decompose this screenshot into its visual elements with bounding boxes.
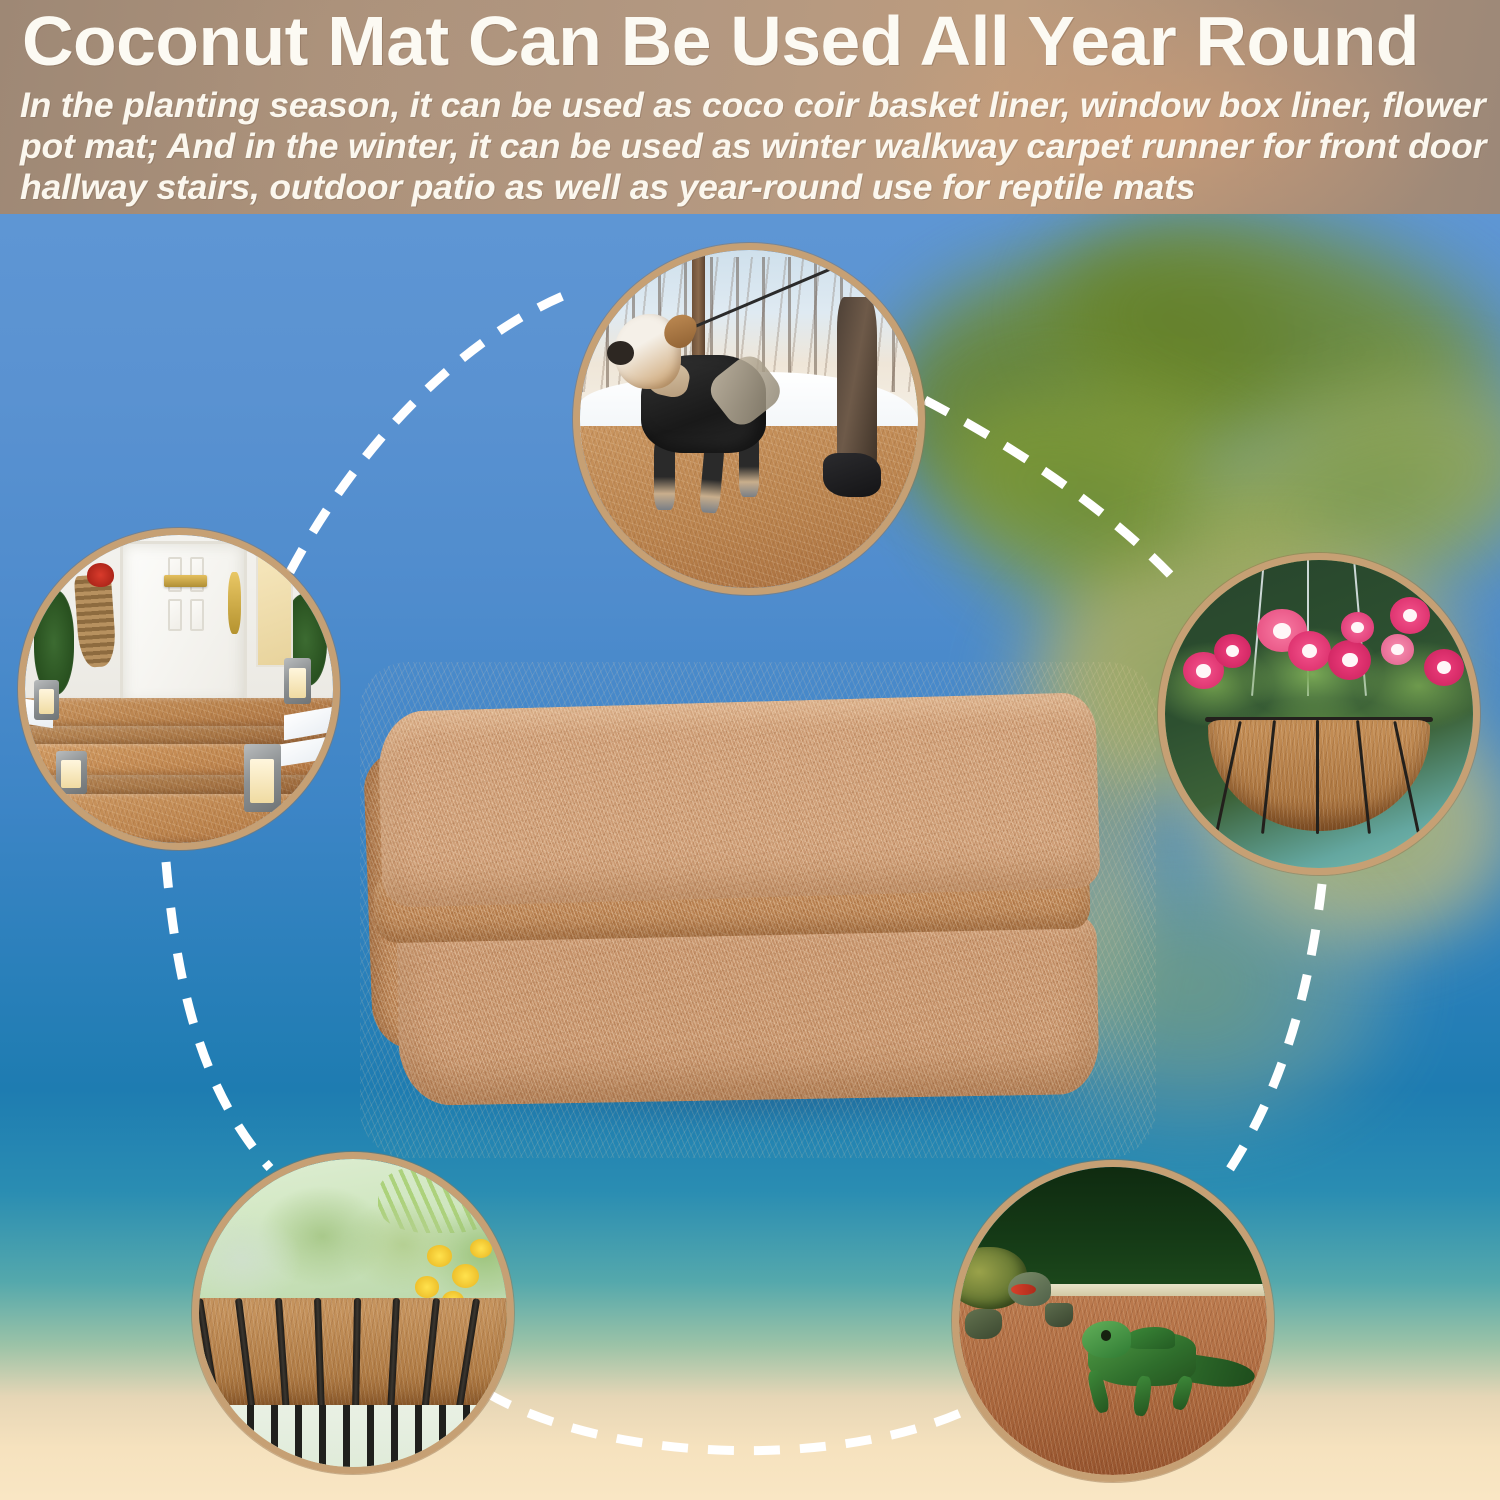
turtle-red-ear-marking bbox=[1011, 1284, 1036, 1295]
red-bow bbox=[87, 563, 115, 588]
use-case-reptile-mat[interactable] bbox=[952, 1160, 1274, 1482]
boot bbox=[823, 453, 880, 497]
door-panel bbox=[190, 599, 204, 631]
mat-top-layer bbox=[377, 692, 1100, 908]
front-door bbox=[120, 541, 246, 707]
pink-flower bbox=[1288, 631, 1331, 671]
yellow-flower bbox=[470, 1239, 492, 1257]
mat-bottom-layer bbox=[396, 912, 1099, 1106]
lantern-icon bbox=[244, 744, 281, 812]
yellow-flower bbox=[427, 1245, 452, 1267]
use-case-winter-walkway[interactable] bbox=[573, 243, 925, 595]
person-leg bbox=[837, 297, 878, 473]
planted-greenery bbox=[199, 1171, 507, 1313]
pink-flower bbox=[1381, 634, 1415, 665]
sidelight-window bbox=[256, 550, 293, 667]
lantern-icon bbox=[284, 658, 312, 704]
lantern-icon bbox=[34, 680, 59, 720]
use-case-front-door-stairs[interactable] bbox=[18, 528, 340, 850]
use-case-hanging-basket-liner[interactable] bbox=[1158, 553, 1480, 875]
lizard-crest bbox=[1125, 1327, 1174, 1349]
mail-slot bbox=[164, 575, 207, 587]
pink-flower bbox=[1214, 634, 1251, 668]
page-subtitle: In the planting season, it can be used a… bbox=[20, 85, 1490, 208]
lizard-eye bbox=[1101, 1330, 1111, 1340]
iron-railing bbox=[199, 1405, 507, 1467]
use-case-window-box-liner[interactable] bbox=[192, 1152, 514, 1474]
basket-rib bbox=[1316, 720, 1319, 834]
pink-flower bbox=[1424, 649, 1464, 686]
pink-flower bbox=[1390, 597, 1430, 634]
dog-snout bbox=[607, 341, 634, 365]
turtle-leg bbox=[965, 1309, 1002, 1340]
header-banner: Coconut Mat Can Be Used All Year Round I… bbox=[0, 0, 1500, 214]
product-image-folded-coir-mats bbox=[368, 670, 1148, 1150]
page-title: Coconut Mat Can Be Used All Year Round bbox=[22, 4, 1500, 78]
turtle-foot bbox=[1045, 1303, 1073, 1328]
door-panel bbox=[168, 599, 182, 631]
yellow-flower bbox=[415, 1276, 440, 1298]
lantern-icon bbox=[56, 751, 87, 794]
palm-frond-icon bbox=[1032, 214, 1500, 503]
palm-frond-icon bbox=[854, 214, 1337, 562]
door-handle bbox=[228, 572, 240, 634]
coir-covered-step bbox=[25, 794, 333, 843]
